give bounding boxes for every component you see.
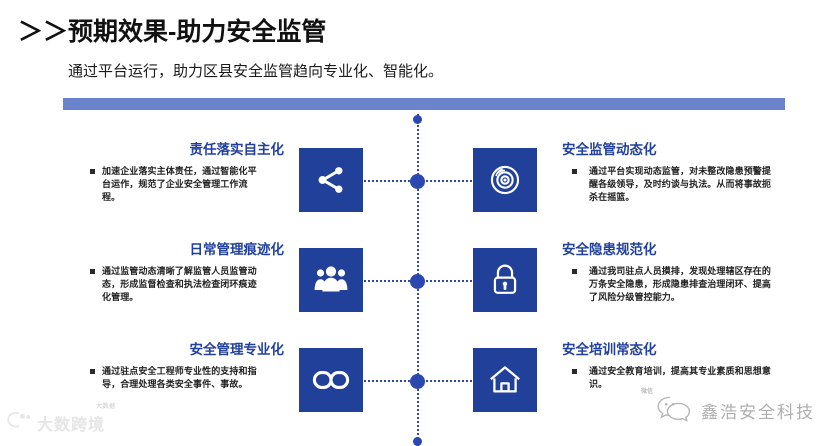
- bullet-square-icon: [572, 169, 577, 174]
- padlock-icon: [489, 263, 521, 297]
- timeline-node-2: [410, 274, 425, 289]
- timeline-node-1: [410, 174, 425, 189]
- card-title-right-1: 安全监管动态化: [562, 142, 812, 158]
- icon-tile-people-group[interactable]: [299, 248, 363, 312]
- timeline-top-dot: [413, 115, 422, 124]
- card-bullet-right-1: 通过平台实现动态监管，对未整改隐患预警提醒各级领导，及时约谈与执法。从而将事故扼…: [562, 165, 812, 204]
- bullet-square-icon: [90, 169, 95, 174]
- watermark-left: 大数跨境: [6, 410, 105, 435]
- timeline-connector-right-2: [418, 280, 480, 282]
- card-title-right-3: 安全培训常态化: [562, 342, 812, 358]
- watermark-right-label: 鑫浩安全科技: [701, 398, 815, 423]
- bullet-square-icon: [572, 369, 577, 374]
- card-bullet-right-3: 通过安全教育培训，提高其专业素质和思想意识。: [562, 365, 812, 391]
- card-body-right-3: 通过安全教育培训，提高其专业素质和思想意识。: [589, 365, 774, 391]
- icon-tile-disc-target[interactable]: [473, 148, 537, 212]
- bullet-square-icon: [90, 269, 95, 274]
- people-group-icon: [313, 264, 349, 296]
- card-body-left-3: 通过驻点安全工程师专业性的支持和指导，合理处理各类安全事件、事故。: [102, 365, 262, 391]
- card-text-right-3: 安全培训常态化 通过安全教育培训，提高其专业素质和思想意识。: [562, 342, 812, 391]
- card-bullet-right-2: 通过我司驻点人员摸排，发现处理辖区存在的万条安全隐患，形成隐患排查治理闭环、提高…: [562, 265, 812, 304]
- card-title-left-2: 日常管理痕迹化: [90, 242, 290, 258]
- card-title-left-1: 责任落实自主化: [90, 142, 290, 158]
- header-divider-bar: [63, 98, 785, 110]
- icon-tile-padlock[interactable]: [473, 248, 537, 312]
- watermark-right-superscript: 微信: [641, 386, 653, 395]
- bullet-square-icon: [90, 369, 95, 374]
- wechat-icon: [655, 393, 693, 428]
- slide-canvas: ＞＞预期效果-助力安全监管 通过平台运行，助力区县安全监管趋向专业化、智能化。 …: [0, 0, 837, 446]
- disc-target-icon: [488, 163, 522, 197]
- timeline-node-3: [410, 374, 425, 389]
- icon-tile-home[interactable]: [473, 348, 537, 412]
- card-body-left-2: 通过监管动态清晰了解监管人员监管动态，形成监督检查和执法检查闭环痕迹化管理。: [102, 265, 262, 304]
- card-body-right-1: 通过平台实现动态监管，对未整改隐患预警提醒各级领导，及时约谈与执法。从而将事故扼…: [589, 165, 774, 204]
- card-text-right-1: 安全监管动态化 通过平台实现动态监管，对未整改隐患预警提醒各级领导，及时约谈与执…: [562, 142, 812, 204]
- watermark-left-label: 大数跨境: [37, 411, 105, 435]
- card-text-left-1: 责任落实自主化 加速企业落实主体责任，通过智能化平台运作，规范了企业安全管理工作…: [90, 142, 290, 204]
- card-text-left-2: 日常管理痕迹化 通过监管动态清晰了解监管人员监管动态，形成监督检查和执法检查闭环…: [90, 242, 290, 304]
- card-title-left-3: 安全管理专业化: [90, 342, 290, 358]
- page-subtitle: 通过平台运行，助力区县安全监管趋向专业化、智能化。: [68, 60, 443, 81]
- timeline-connector-right-3: [418, 380, 480, 382]
- card-bullet-left-1: 加速企业落实主体责任，通过智能化平台运作，规范了企业安全管理工作流程。: [90, 165, 290, 204]
- content-row-1: 责任落实自主化 加速企业落实主体责任，通过智能化平台运作，规范了企业安全管理工作…: [0, 140, 837, 240]
- chain-link-icon: [312, 367, 350, 393]
- card-bullet-left-2: 通过监管动态清晰了解监管人员监管动态，形成监督检查和执法检查闭环痕迹化管理。: [90, 265, 290, 304]
- page-title: ＞＞预期效果-助力安全监管: [18, 12, 326, 48]
- icon-tile-share[interactable]: [299, 148, 363, 212]
- card-title-right-2: 安全隐患规范化: [562, 242, 812, 258]
- watermark-right: 鑫浩安全科技: [655, 393, 815, 428]
- bullet-square-icon: [572, 269, 577, 274]
- card-body-left-1: 加速企业落实主体责任，通过智能化平台运作，规范了企业安全管理工作流程。: [102, 165, 262, 204]
- home-icon: [488, 364, 522, 396]
- timeline-connector-right-1: [418, 180, 480, 182]
- icon-tile-chain-link[interactable]: [299, 348, 363, 412]
- watermark-left-superscript: 大数据: [96, 401, 116, 410]
- card-text-right-2: 安全隐患规范化 通过我司驻点人员摸排，发现处理辖区存在的万条安全隐患，形成隐患排…: [562, 242, 812, 304]
- share-icon: [314, 163, 348, 197]
- card-bullet-left-3: 通过驻点安全工程师专业性的支持和指导，合理处理各类安全事件、事故。: [90, 365, 290, 391]
- card-text-left-3: 安全管理专业化 通过驻点安全工程师专业性的支持和指导，合理处理各类安全事件、事故…: [90, 342, 290, 391]
- card-body-right-2: 通过我司驻点人员摸排，发现处理辖区存在的万条安全隐患，形成隐患排查治理闭环、提高…: [589, 265, 774, 304]
- dashu-logo-icon: [6, 410, 32, 435]
- content-row-2: 日常管理痕迹化 通过监管动态清晰了解监管人员监管动态，形成监督检查和执法检查闭环…: [0, 240, 837, 340]
